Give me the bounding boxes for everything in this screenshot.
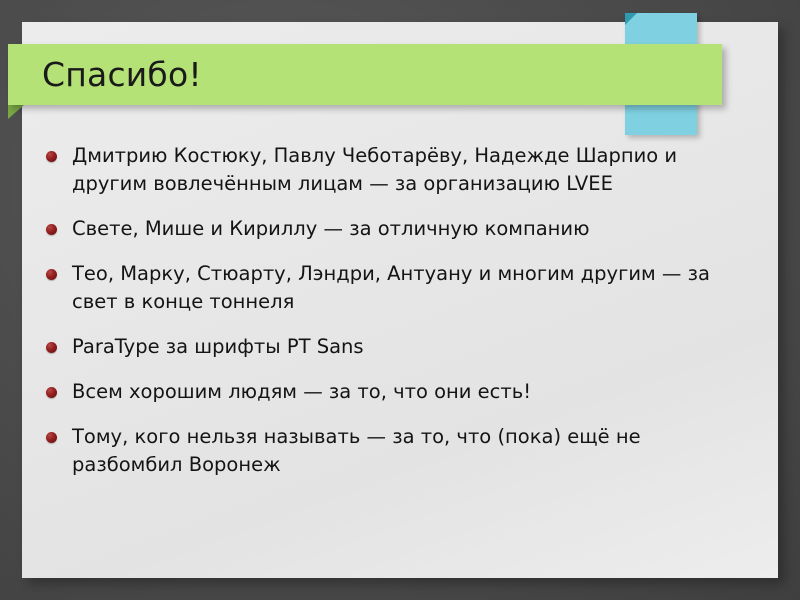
- bullet-marker-icon: [46, 432, 57, 443]
- accent-ribbon-fold-icon: [625, 13, 637, 25]
- slide-title: Спасибо!: [42, 44, 202, 105]
- list-item-text: Всем хорошим людям — за то, что они есть…: [72, 378, 744, 406]
- list-item: Тому, кого нельзя называть — за то, что …: [44, 423, 744, 479]
- list-item: ParaType за шрифты PT Sans: [44, 333, 744, 361]
- list-item-text: Тому, кого нельзя называть — за то, что …: [72, 423, 744, 479]
- list-item-text: Свете, Мише и Кириллу — за отличную комп…: [72, 215, 744, 243]
- list-item: Всем хорошим людям — за то, что они есть…: [44, 378, 744, 406]
- bullet-marker-icon: [46, 342, 57, 353]
- list-item-text: Тео, Марку, Стюарту, Лэндри, Антуану и м…: [72, 260, 744, 316]
- list-item-text: ParaType за шрифты PT Sans: [72, 333, 744, 361]
- list-item: Дмитрию Костюку, Павлу Чеботарёву, Надеж…: [44, 142, 744, 198]
- presentation-root: Спасибо! Дмитрию Костюку, Павлу Чеботарё…: [0, 0, 800, 600]
- bullet-list: Дмитрию Костюку, Павлу Чеботарёву, Надеж…: [44, 142, 744, 479]
- list-item: Свете, Мише и Кириллу — за отличную комп…: [44, 215, 744, 243]
- bullet-marker-icon: [46, 224, 57, 235]
- bullet-marker-icon: [46, 269, 57, 280]
- list-item-text: Дмитрию Костюку, Павлу Чеботарёву, Надеж…: [72, 142, 744, 198]
- bullet-marker-icon: [46, 387, 57, 398]
- list-item: Тео, Марку, Стюарту, Лэндри, Антуану и м…: [44, 260, 744, 316]
- title-band-fold-icon: [8, 105, 24, 119]
- bullet-marker-icon: [46, 151, 57, 162]
